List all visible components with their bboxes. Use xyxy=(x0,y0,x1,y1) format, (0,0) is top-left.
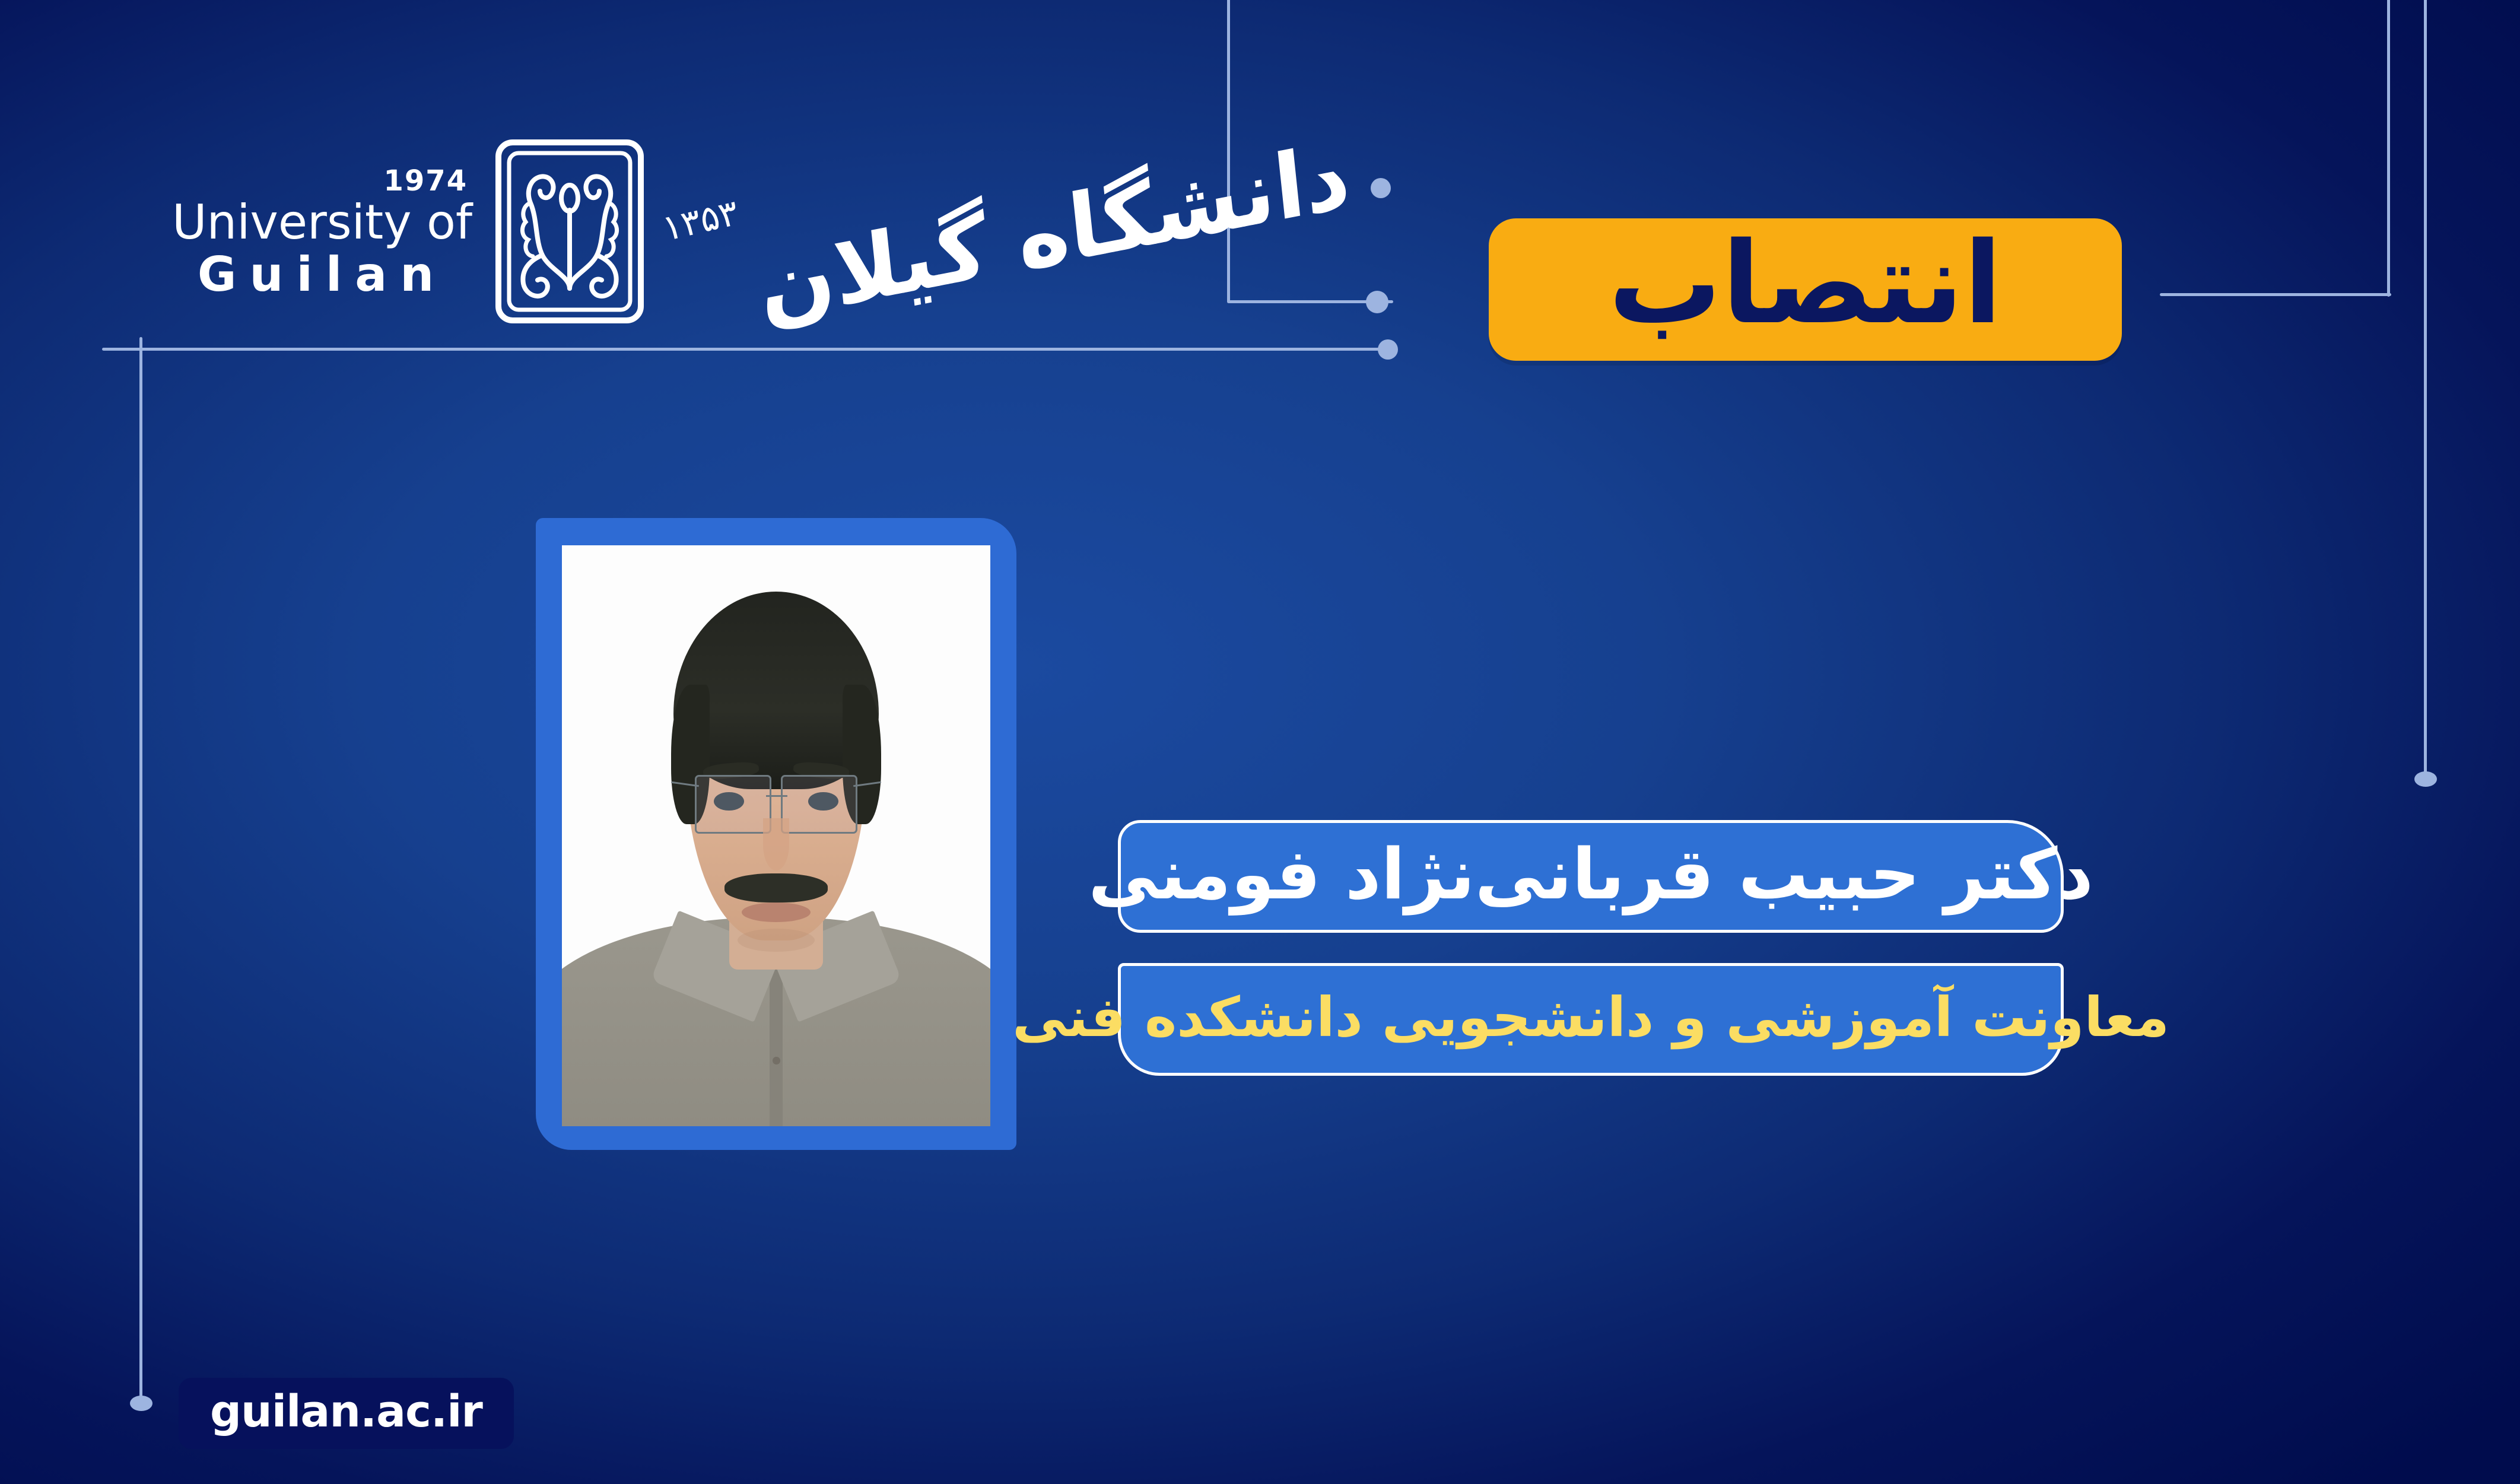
deco-line-right-bracket-vertical xyxy=(2387,0,2390,297)
deco-line-right-bracket-horizontal xyxy=(2160,293,2391,296)
person-name-bar: دکتر حبیب قربانی‌نژاد فومنی xyxy=(1118,820,2064,933)
deco-line-left-vertical xyxy=(139,337,142,1405)
logo-persian-text: ۱۳۵۳ دانشگاه گیلان xyxy=(662,182,1355,284)
logo-university-word: University of xyxy=(172,199,472,246)
logo-founding-year-fa: ۱۳۵۳ xyxy=(659,192,742,249)
university-logo: 1974 University of Guilan ۱۳۵ xyxy=(172,136,1355,329)
logo-english-text: 1974 University of Guilan xyxy=(172,167,472,298)
deco-line-right-vertical xyxy=(2424,0,2427,777)
website-badge[interactable]: guilan.ac.ir xyxy=(179,1378,514,1449)
deco-dot-left-bottom xyxy=(130,1396,152,1411)
poster-canvas: 1974 University of Guilan ۱۳۵ xyxy=(0,0,2520,1484)
person-position: معاونت آموزشی و دانشجویی دانشکده فنی xyxy=(1012,990,2169,1045)
logo-guilan-word: Guilan xyxy=(198,251,447,298)
person-position-bar: معاونت آموزشی و دانشجویی دانشکده فنی xyxy=(1118,963,2064,1076)
appointment-badge-label: انتصاب xyxy=(1609,227,2003,340)
website-url: guilan.ac.ir xyxy=(210,1390,482,1434)
logo-founding-year-en: 1974 xyxy=(384,167,468,195)
portrait-photo xyxy=(562,545,990,1126)
deco-dot-right-vertical xyxy=(2414,771,2437,787)
portrait-photo-frame xyxy=(536,518,1016,1150)
person-name: دکتر حبیب قربانی‌نژاد فومنی xyxy=(1088,839,2093,909)
guilan-university-emblem-icon xyxy=(492,136,647,329)
deco-dot-badge-left xyxy=(1371,178,1391,198)
appointment-badge: انتصاب xyxy=(1489,218,2122,361)
deco-dot-left-horizontal-end xyxy=(1378,339,1398,360)
logo-university-name-fa: دانشگاه گیلان xyxy=(754,124,1355,341)
deco-line-left-horizontal xyxy=(102,348,1390,351)
deco-dot-top-bracket xyxy=(1366,291,1388,313)
